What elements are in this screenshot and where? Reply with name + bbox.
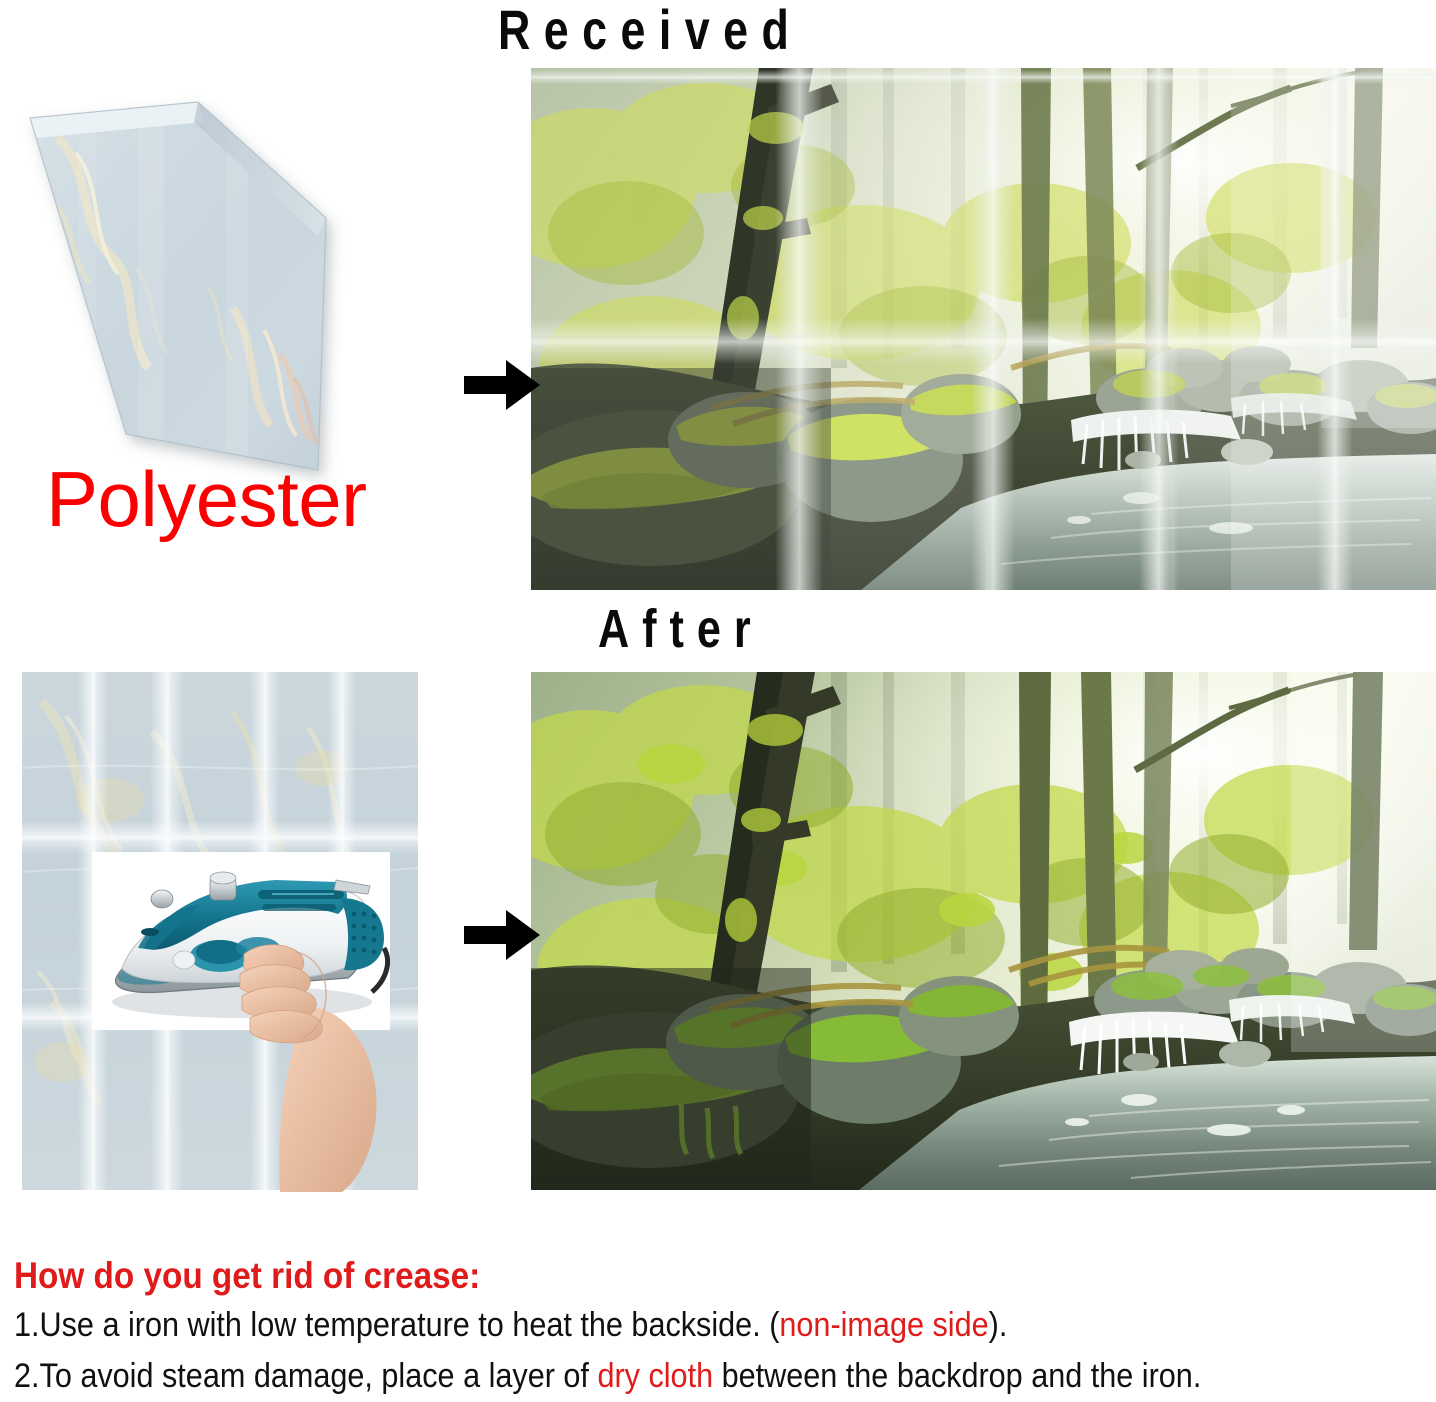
polyester-label: Polyester — [46, 460, 367, 538]
instructions-block: How do you get rid of crease: 1.Use a ir… — [14, 1256, 1426, 1398]
received-photo — [531, 68, 1436, 590]
crease-instructions-heading: How do you get rid of crease: — [14, 1256, 1285, 1297]
instruction-2-highlight: dry cloth — [597, 1357, 713, 1395]
instruction-2-prefix: 2.To avoid steam damage, place a layer o… — [14, 1357, 597, 1395]
instruction-1-prefix: 1.Use a iron with low temperature to hea… — [14, 1306, 779, 1344]
instruction-line-2: 2.To avoid steam damage, place a layer o… — [14, 1354, 1285, 1399]
iron-demo-panel — [92, 852, 390, 1030]
forest-scene-smooth — [531, 672, 1436, 1190]
right-arrow-icon — [462, 906, 542, 964]
iron-button — [151, 890, 173, 908]
instruction-2-suffix: between the backdrop and the iron. — [713, 1357, 1201, 1395]
infographic-page: Received — [0, 0, 1436, 1402]
right-arrow-icon — [462, 356, 542, 414]
received-heading: Received — [498, 2, 802, 58]
after-photo — [531, 672, 1436, 1190]
after-heading: After — [598, 602, 764, 656]
steam-iron-icon — [92, 852, 390, 1030]
folded-fabric-image — [18, 78, 408, 498]
forest-scene-creased — [531, 68, 1436, 590]
instruction-line-1: 1.Use a iron with low temperature to hea… — [14, 1303, 1285, 1348]
instruction-1-highlight: non-image side — [779, 1306, 988, 1344]
iron-knob — [210, 872, 236, 900]
instruction-1-suffix: ). — [989, 1306, 1008, 1344]
